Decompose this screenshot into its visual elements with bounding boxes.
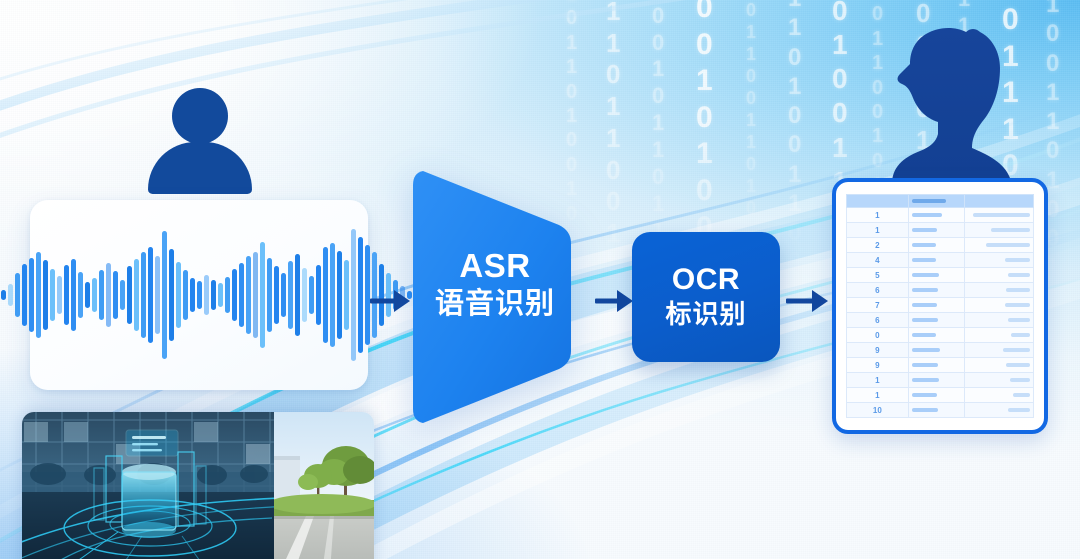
waveform-bar xyxy=(211,280,216,310)
table-cell-value xyxy=(908,253,964,268)
placeholder-bar xyxy=(912,378,939,382)
waveform-bar xyxy=(267,258,272,332)
waveform-bar xyxy=(302,268,307,322)
table-row[interactable]: 1 xyxy=(847,388,1034,403)
arrow-shaft xyxy=(786,299,814,304)
arrow-shaft xyxy=(370,299,396,304)
waveform-bar xyxy=(337,251,342,339)
table-cell-value xyxy=(908,298,964,313)
table-cell-value xyxy=(964,328,1033,343)
placeholder-bar xyxy=(1008,318,1030,322)
table-cell-index: 9 xyxy=(847,343,909,358)
waveform-bar xyxy=(169,249,174,341)
waveform-bar xyxy=(351,229,356,361)
table-cell-value xyxy=(964,343,1033,358)
table-row[interactable]: 5 xyxy=(847,268,1034,283)
placeholder-bar xyxy=(912,228,938,232)
waveform-bar xyxy=(204,275,209,315)
result-table: 112456760991110 xyxy=(846,194,1034,418)
waveform-bar xyxy=(274,266,279,324)
placeholder-bar xyxy=(912,273,939,277)
table-cell-value xyxy=(908,328,964,343)
waveform-bar xyxy=(134,259,139,331)
arrow-asr-to-ocr xyxy=(595,288,633,314)
user-avatar-icon xyxy=(172,88,228,144)
table-row[interactable]: 10 xyxy=(847,403,1034,418)
table-cell-index: 1 xyxy=(847,223,909,238)
table-cell-value xyxy=(908,343,964,358)
arrow-shaft xyxy=(595,299,619,304)
smart-city-photo xyxy=(22,412,374,559)
placeholder-bar xyxy=(973,213,1030,217)
waveform-bar xyxy=(1,290,6,300)
table-cell-value xyxy=(908,358,964,373)
waveform-bar xyxy=(99,270,104,320)
arrow-head-icon xyxy=(812,290,828,312)
table-cell-value xyxy=(908,313,964,328)
placeholder-bar xyxy=(912,348,940,352)
waveform-bar xyxy=(148,247,153,343)
speaker-avatar xyxy=(148,88,252,194)
waveform-bar xyxy=(281,273,286,317)
table-row[interactable]: 6 xyxy=(847,283,1034,298)
table-row[interactable]: 7 xyxy=(847,298,1034,313)
table-cell-value xyxy=(964,208,1033,223)
table-header-row xyxy=(847,195,1034,208)
table-cell-value xyxy=(908,403,964,418)
ocr-label-en: OCR xyxy=(672,263,740,296)
table-cell-index: 0 xyxy=(847,328,909,343)
table-cell-value xyxy=(964,373,1033,388)
audio-waveform xyxy=(38,200,360,390)
user-avatar-body xyxy=(148,142,252,194)
placeholder-bar xyxy=(986,243,1030,247)
placeholder-bar xyxy=(1008,273,1030,277)
placeholder-bar xyxy=(1006,363,1030,367)
table-cell-value xyxy=(964,388,1033,403)
arrow-head-icon xyxy=(617,290,633,312)
waveform-bar xyxy=(50,269,55,321)
table-row[interactable]: 6 xyxy=(847,313,1034,328)
table-cell-value xyxy=(964,283,1033,298)
waveform-bar xyxy=(113,271,118,319)
waveform-bar xyxy=(71,259,76,331)
waveform-bar xyxy=(127,266,132,324)
waveform-bar xyxy=(358,237,363,353)
table-cell-index: 5 xyxy=(847,268,909,283)
table-header-cell-index xyxy=(847,195,909,208)
placeholder-bar xyxy=(912,333,937,337)
table-cell-value xyxy=(964,358,1033,373)
waveform-bar xyxy=(141,252,146,338)
waveform-bar xyxy=(22,264,27,326)
table-cell-value xyxy=(964,223,1033,238)
placeholder-bar xyxy=(912,303,938,307)
placeholder-bar xyxy=(1013,393,1030,397)
waveform-bar xyxy=(92,278,97,312)
arrow-ocr-to-document xyxy=(786,288,828,314)
placeholder-bar xyxy=(1005,303,1030,307)
placeholder-bar xyxy=(912,258,937,262)
table-row[interactable]: 0 xyxy=(847,328,1034,343)
table-cell-value xyxy=(908,373,964,388)
table-cell-value xyxy=(908,223,964,238)
waveform-card xyxy=(30,200,368,390)
waveform-bar xyxy=(155,256,160,334)
table-row[interactable]: 1 xyxy=(847,208,1034,223)
waveform-bar xyxy=(15,273,20,317)
waveform-bar xyxy=(295,254,300,336)
document-card[interactable]: 112456760991110 xyxy=(832,178,1048,434)
waveform-bar xyxy=(246,256,251,334)
table-cell-index: 6 xyxy=(847,283,909,298)
waveform-bar xyxy=(309,276,314,314)
waveform-bar xyxy=(183,270,188,320)
placeholder-bar xyxy=(1008,408,1030,412)
placeholder-bar xyxy=(912,393,938,397)
table-row[interactable]: 4 xyxy=(847,253,1034,268)
waveform-bar xyxy=(344,260,349,330)
infographic-canvas: 1011010010110110011010010110110010100101… xyxy=(0,0,1080,559)
placeholder-bar xyxy=(912,213,942,217)
placeholder-bar xyxy=(912,318,939,322)
arrow-head-icon xyxy=(394,290,410,312)
waveform-bar xyxy=(225,277,230,313)
placeholder-bar xyxy=(912,243,937,247)
waveform-bar xyxy=(288,261,293,329)
waveform-bar xyxy=(85,282,90,308)
table-cell-value xyxy=(964,403,1033,418)
table-row[interactable]: 2 xyxy=(847,238,1034,253)
table-cell-index: 9 xyxy=(847,358,909,373)
placeholder-bar xyxy=(912,199,946,203)
placeholder-bar xyxy=(912,288,939,292)
placeholder-bar xyxy=(1010,378,1030,382)
waveform-bar xyxy=(253,252,258,338)
table-cell-value xyxy=(908,238,964,253)
waveform-bar xyxy=(106,263,111,327)
waveform-bar xyxy=(43,260,48,330)
ocr-stage[interactable]: OCR 标识别 xyxy=(632,232,780,362)
placeholder-bar xyxy=(1006,288,1030,292)
table-cell-value xyxy=(964,313,1033,328)
waveform-bar xyxy=(316,265,321,325)
waveform-bar xyxy=(197,281,202,309)
waveform-bar xyxy=(8,284,13,306)
table-cell-value xyxy=(964,268,1033,283)
waveform-bar xyxy=(232,269,237,321)
table-cell-value xyxy=(908,388,964,403)
placeholder-bar xyxy=(1005,258,1030,262)
waveform-bar xyxy=(323,247,328,343)
ocr-label-cn: 标识别 xyxy=(665,298,746,332)
table-cell-value xyxy=(964,298,1033,313)
arrow-waveform-to-asr xyxy=(370,288,410,314)
placeholder-bar xyxy=(1011,333,1030,337)
waveform-bar xyxy=(64,265,69,325)
waveform-bar xyxy=(365,245,370,345)
placeholder-bar xyxy=(912,408,939,412)
table-cell-value xyxy=(908,268,964,283)
waveform-bar xyxy=(36,252,41,338)
table-cell-index: 1 xyxy=(847,208,909,223)
table-row[interactable]: 9 xyxy=(847,343,1034,358)
placeholder-bar xyxy=(1003,348,1030,352)
table-cell-value xyxy=(908,208,964,223)
table-row[interactable]: 1 xyxy=(847,373,1034,388)
table-cell-index: 6 xyxy=(847,313,909,328)
waveform-bar xyxy=(218,283,223,307)
table-cell-index: 2 xyxy=(847,238,909,253)
table-cell-index: 1 xyxy=(847,373,909,388)
table-header-cell-b xyxy=(908,195,964,208)
table-cell-index: 7 xyxy=(847,298,909,313)
waveform-bar xyxy=(239,263,244,327)
table-cell-value xyxy=(908,283,964,298)
waveform-bar xyxy=(330,243,335,347)
table-cell-index: 10 xyxy=(847,403,909,418)
table-cell-index: 1 xyxy=(847,388,909,403)
table-cell-index: 4 xyxy=(847,253,909,268)
waveform-bar xyxy=(176,262,181,328)
waveform-bar xyxy=(120,280,125,310)
waveform-bar xyxy=(57,276,62,314)
waveform-bar xyxy=(260,242,265,348)
table-cell-value xyxy=(964,253,1033,268)
table-cell-value xyxy=(964,238,1033,253)
waveform-bar xyxy=(78,272,83,318)
waveform-bar xyxy=(190,278,195,312)
table-header-cell-c xyxy=(964,195,1033,208)
placeholder-bar xyxy=(912,363,939,367)
placeholder-bar xyxy=(991,228,1030,232)
table-row[interactable]: 9 xyxy=(847,358,1034,373)
table-row[interactable]: 1 xyxy=(847,223,1034,238)
asr-stage[interactable] xyxy=(409,163,589,431)
waveform-bar xyxy=(29,258,34,332)
waveform-bar xyxy=(162,231,167,359)
